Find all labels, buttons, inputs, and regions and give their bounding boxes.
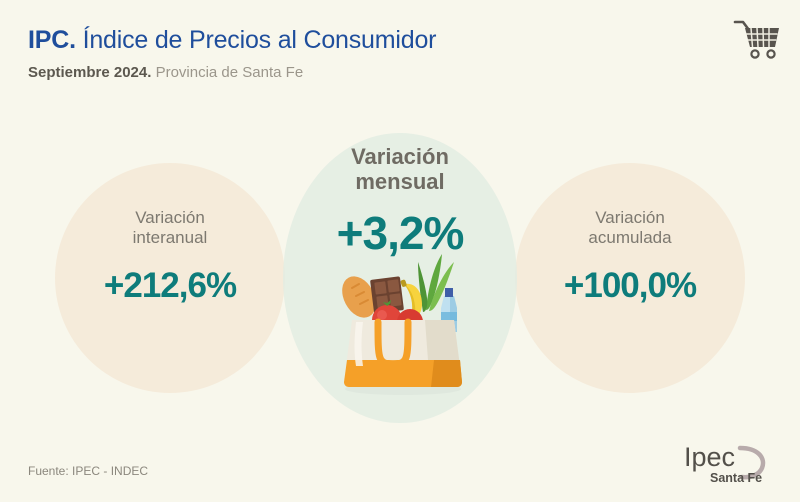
stat-mensual-label-line1: Variación	[351, 144, 449, 169]
stat-acumulada: Variación acumulada +100,0%	[515, 208, 745, 306]
stat-mensual-value: +3,2%	[283, 206, 517, 260]
stat-interanual: Variación interanual +212,6%	[55, 208, 285, 306]
stat-mensual-label-line2: mensual	[355, 169, 444, 194]
stat-acumulada-label: Variación acumulada	[515, 208, 745, 248]
stat-acumulada-label-line2: acumulada	[588, 228, 671, 247]
source-note: Fuente: IPEC - INDEC	[28, 464, 148, 478]
stat-mensual-label: Variación mensual	[283, 144, 517, 194]
ipec-logo-subtext: Santa Fe	[710, 471, 762, 485]
stat-interanual-label: Variación interanual	[55, 208, 285, 248]
infographic-canvas: IPC. Índice de Precios al Consumidor Sep…	[0, 0, 800, 502]
grocery-bag-illustration	[330, 248, 476, 398]
stat-interanual-label-line2: interanual	[133, 228, 208, 247]
stat-acumulada-value: +100,0%	[515, 266, 745, 306]
stat-acumulada-label-line1: Variación	[595, 208, 665, 227]
ipec-logo: Ipec Santa Fe	[670, 438, 778, 486]
stat-interanual-label-line1: Variación	[135, 208, 205, 227]
ipec-logo-wordmark: Ipec	[684, 442, 735, 472]
stat-mensual: Variación mensual +3,2%	[283, 144, 517, 260]
stat-interanual-value: +212,6%	[55, 266, 285, 306]
